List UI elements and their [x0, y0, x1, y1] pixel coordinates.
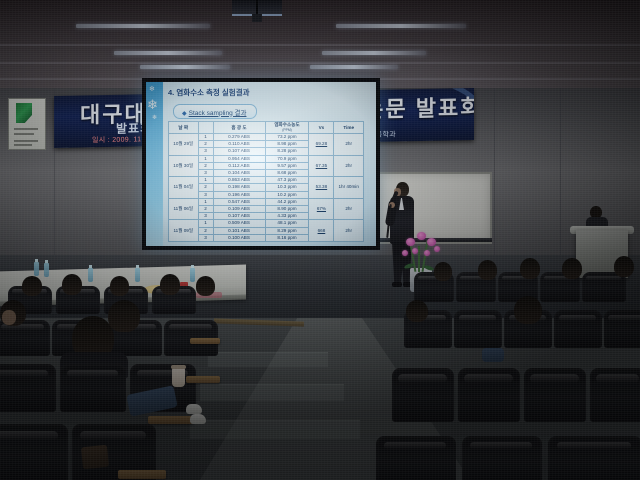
snowflake-icon: ❄: [152, 115, 157, 121]
seat-sheen: [67, 370, 118, 378]
seat[interactable]: [454, 310, 502, 348]
audience-head: [562, 258, 582, 279]
cell-concentration: 48.1 ppm: [265, 220, 309, 227]
audience-head: [614, 256, 634, 277]
water-bottle: [44, 263, 49, 277]
cell-date: 10월 29일: [169, 134, 199, 156]
th-concentration-label: 염화수소농도: [274, 122, 299, 127]
cell-concentration: 70.9 ppm: [265, 155, 309, 162]
cell-no: 1: [198, 198, 213, 205]
cell-concentration: 8.16 ppm: [265, 234, 309, 241]
th-no: [198, 122, 213, 134]
seat[interactable]: [392, 368, 454, 422]
orchid-bloom: [412, 248, 418, 254]
bullet-marker-icon: ◆: [182, 111, 187, 117]
orchid-bloom: [402, 250, 408, 256]
orchid-bloom: [406, 238, 415, 246]
water-bottle: [190, 268, 195, 282]
cell-concentration: 8.29 ppm: [265, 227, 309, 234]
cell-no: 3: [198, 213, 213, 220]
snowflake-icon: ❄: [147, 98, 158, 111]
cell-date: 11월 09일: [169, 220, 199, 242]
seat[interactable]: [590, 368, 640, 422]
seat-sheen: [398, 374, 446, 383]
orchid-bloom: [427, 238, 436, 246]
audience-head: [434, 262, 452, 281]
seat-sheen: [530, 374, 578, 383]
cell-absorbance: 0.954 ABS: [213, 155, 265, 162]
seat[interactable]: [462, 436, 542, 480]
ceiling-panel-line: [0, 62, 640, 64]
th-date: 날 짜: [169, 122, 199, 134]
cell-concentration: 8.90 ppm: [265, 206, 309, 213]
aisle-step: [190, 420, 360, 439]
cell-absorbance: 0.110 ABS: [213, 141, 265, 148]
seat-sheen: [0, 370, 48, 378]
cell-absorbance: 0.107 ABS: [213, 148, 265, 155]
cell-no: 1: [198, 155, 213, 162]
cell-time: 1hr 40min: [334, 177, 364, 199]
seat-sheen: [80, 431, 146, 440]
seat-sheen: [608, 315, 640, 321]
slide-title: 4. 염화수소 측정 실험결과: [168, 87, 250, 98]
ceiling-light-strip: [76, 24, 210, 28]
ceiling-panel-line: [0, 44, 640, 46]
seat[interactable]: [0, 364, 56, 412]
cell-no: 1: [198, 134, 213, 141]
snowflake-icon: ❄: [149, 86, 155, 93]
audience-head: [520, 258, 540, 279]
audience-head: [160, 274, 180, 295]
cell-concentration: 73.2 ppm: [265, 134, 309, 141]
bag: [81, 445, 109, 470]
cell-no: 3: [198, 191, 213, 198]
poster-text-line: [14, 133, 34, 135]
table-row: 10월 30일10.954 ABS70.9 ppm67.352hr: [169, 155, 364, 162]
cell-no: 3: [198, 148, 213, 155]
sneaker: [190, 414, 206, 424]
ceiling-light-strip: [336, 24, 466, 28]
table-row: 10월 29일10.279 ABS73.2 ppm69.282hr: [169, 134, 364, 141]
cell-absorbance: 0.509 ABS: [213, 220, 265, 227]
seat-sheen: [557, 442, 630, 450]
results-table: 날 짜 흡 광 도 염화수소농도 (PPM) Vs Time 10월 29일10…: [168, 121, 364, 242]
cell-concentration: 44.2 ppm: [265, 198, 309, 205]
cell-no: 1: [198, 220, 213, 227]
water-bottle: [34, 262, 39, 276]
audience-head: [110, 276, 129, 296]
cell-no: 2: [198, 141, 213, 148]
th-concentration: 염화수소농도 (PPM): [265, 122, 309, 134]
audience-head: [108, 300, 140, 332]
cell-time: 2hr: [334, 134, 364, 156]
seat[interactable]: [554, 310, 602, 348]
flower-stem: [418, 246, 420, 272]
cell-vs: 67%: [309, 198, 334, 220]
coffee-cup: [172, 368, 185, 387]
audience-legs: [482, 348, 504, 362]
cell-date: 11월 06일: [169, 198, 199, 220]
cell-absorbance: 0.101 ABS: [213, 227, 265, 234]
seat[interactable]: [458, 368, 520, 422]
seat[interactable]: [524, 368, 586, 422]
th-time: Time: [334, 122, 364, 134]
cell-no: 2: [198, 206, 213, 213]
th-absorbance: 흡 광 도: [213, 122, 265, 134]
cell-date: 11월 04일: [169, 177, 199, 199]
armrest: [186, 376, 220, 383]
wall-seam: [494, 88, 495, 273]
cell-absorbance: 0.198 ABS: [213, 184, 265, 191]
th-concentration-unit: (PPM): [266, 128, 309, 134]
cell-no: 3: [198, 234, 213, 241]
orchid-bloom: [417, 232, 426, 240]
audience-head: [62, 274, 82, 295]
seat[interactable]: [604, 310, 640, 348]
armrest: [190, 338, 220, 344]
cell-vs: 69.28: [309, 134, 334, 156]
audience-head: [406, 300, 428, 322]
seat-sheen: [559, 315, 596, 321]
water-bottle: [135, 268, 140, 282]
cell-concentration: 4.33 ppm: [265, 213, 309, 220]
cell-absorbance: 0.104 ABS: [213, 170, 265, 177]
slide-bullet-label: Stack sampling 결과: [189, 110, 247, 117]
slide-bullet-stack-sampling: ◆Stack sampling 결과: [173, 104, 257, 119]
seat-sheen: [470, 442, 532, 450]
ceiling-light-strip: [322, 51, 426, 55]
aisle-step: [208, 352, 328, 367]
cell-concentration: 8.98 ppm: [265, 141, 309, 148]
cell-absorbance: 0.112 ABS: [213, 162, 265, 169]
presentation-slide: ❄ ❄ ❄ 4. 염화수소 측정 실험결과 ◆Stack sampling 결과…: [146, 82, 376, 246]
table-row: 11월 09일10.509 ABS48.1 ppm6682hr: [169, 220, 364, 227]
cell-no: 3: [198, 170, 213, 177]
presenter-shoe: [392, 282, 402, 287]
armrest: [148, 416, 194, 424]
poster-text-line: [14, 128, 38, 130]
poster-logo-icon: [16, 103, 32, 123]
cell-absorbance: 0.100 ABS: [213, 234, 265, 241]
seat-sheen: [459, 315, 496, 321]
cell-vs: 53.38: [309, 177, 334, 199]
table-body: 10월 29일10.279 ABS73.2 ppm69.282hr20.110 …: [169, 134, 364, 242]
seat[interactable]: [548, 436, 640, 480]
cell-time: 2hr: [334, 155, 364, 177]
audience-head: [196, 276, 215, 296]
cell-absorbance: 0.196 ABS: [213, 191, 265, 198]
ceiling-light-strip: [310, 65, 398, 69]
seat-sheen: [0, 431, 58, 440]
cell-absorbance: 0.863 ABS: [213, 177, 265, 184]
poster-text-line: [14, 144, 32, 146]
cell-absorbance: 0.547 ABS: [213, 198, 265, 205]
table-row: 11월 06일10.547 ABS44.2 ppm67%2hr: [169, 198, 364, 205]
seat[interactable]: [0, 424, 68, 480]
cell-absorbance: 0.109 ABS: [213, 206, 265, 213]
cell-concentration: 8.68 ppm: [265, 170, 309, 177]
projection-screen: ❄ ❄ ❄ 4. 염화수소 측정 실험결과 ◆Stack sampling 결과…: [146, 82, 376, 246]
th-vs: Vs: [309, 122, 334, 134]
cell-absorbance: 0.279 ABS: [213, 134, 265, 141]
armrest: [118, 470, 166, 479]
cell-absorbance: 0.107 ABS: [213, 213, 265, 220]
poster-text-line: [14, 140, 38, 142]
seat[interactable]: [376, 436, 456, 480]
seat-sheen: [596, 374, 640, 383]
seat[interactable]: [60, 364, 126, 412]
seat-sheen: [384, 442, 446, 450]
water-bottle: [88, 268, 93, 282]
wall-poster: [8, 98, 46, 150]
cell-no: 1: [198, 177, 213, 184]
cell-concentration: 47.3 ppm: [265, 177, 309, 184]
cell-no: 2: [198, 184, 213, 191]
seat-sheen: [169, 324, 211, 330]
cell-concentration: 10.3 ppm: [265, 184, 309, 191]
cell-concentration: 9.57 ppm: [265, 162, 309, 169]
cell-concentration: 8.28 ppm: [265, 148, 309, 155]
table-header-row: 날 짜 흡 광 도 염화수소농도 (PPM) Vs Time: [169, 122, 364, 134]
orchid-bloom: [434, 246, 440, 252]
cell-no: 2: [198, 227, 213, 234]
projector-mount: [252, 14, 262, 22]
cell-vs: 67.35: [309, 155, 334, 177]
coffee-cup-lid: [171, 365, 186, 369]
cell-no: 2: [198, 162, 213, 169]
aisle-step: [200, 384, 344, 401]
cell-date: 10월 30일: [169, 155, 199, 177]
cell-time: 2hr: [334, 220, 364, 242]
table-row: 11월 04일10.863 ABS47.3 ppm53.381hr 40min: [169, 177, 364, 184]
cell-vs: 668: [309, 220, 334, 242]
audience-head: [514, 296, 542, 324]
cell-concentration: 10.2 ppm: [265, 191, 309, 198]
seat-sheen: [586, 276, 620, 281]
ceiling-light-strip: [114, 51, 222, 55]
wall-seam: [560, 88, 561, 273]
ceiling-light-strip: [140, 65, 230, 69]
sneaker: [186, 404, 202, 414]
audience-face: [2, 310, 16, 325]
orchid-bloom: [424, 250, 430, 256]
audience-head: [22, 276, 42, 296]
seat-sheen: [464, 374, 512, 383]
audience-head: [478, 260, 497, 280]
cell-time: 2hr: [334, 198, 364, 220]
lecture-hall-photo: 대구대학교 환경공학과 졸업논문 발표회 발표회 일시 : 2009. 11. …: [0, 0, 640, 480]
